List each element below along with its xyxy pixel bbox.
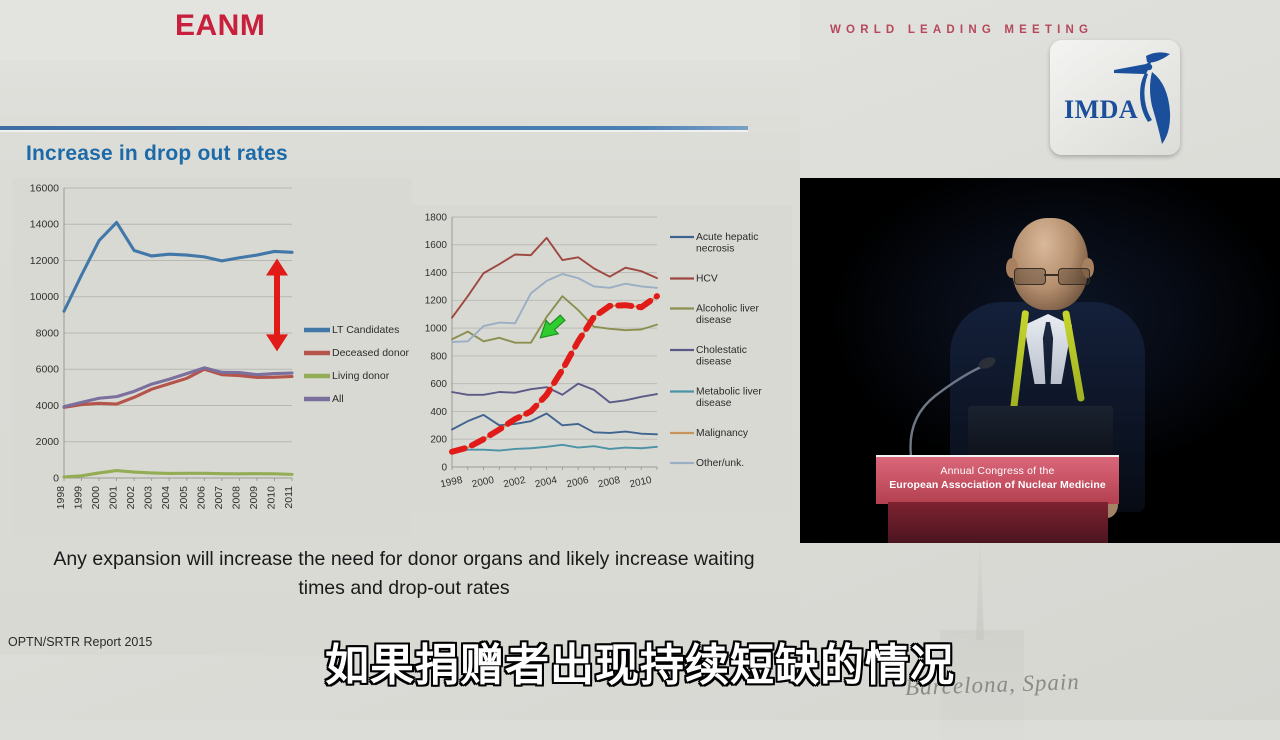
svg-text:Deceased donor: Deceased donor [332,347,410,359]
svg-text:10000: 10000 [30,291,59,303]
svg-text:Metabolic liver: Metabolic liver [696,387,762,398]
svg-text:1600: 1600 [425,240,448,251]
svg-text:disease: disease [696,357,732,368]
svg-text:12000: 12000 [30,255,59,267]
svg-text:Malignancy: Malignancy [696,428,749,439]
svg-text:2011: 2011 [283,486,295,509]
svg-text:1999: 1999 [73,486,85,510]
podium-line-1: Annual Congress of the [876,465,1119,477]
svg-text:2006: 2006 [195,486,207,510]
svg-text:Acute hepatic: Acute hepatic [696,232,758,243]
slide-caption: Any expansion will increase the need for… [34,545,774,604]
svg-text:1200: 1200 [425,296,448,307]
svg-text:2009: 2009 [248,486,260,510]
podium-banner: Annual Congress of the European Associat… [876,455,1119,504]
svg-text:2003: 2003 [143,486,155,510]
svg-text:2007: 2007 [213,486,225,510]
presentation-slide: Increase in drop out rates 0200040006000… [0,60,800,655]
glasses-icon [1012,268,1090,284]
podium-base [888,502,1108,543]
svg-text:Living donor: Living donor [332,370,390,382]
svg-text:disease: disease [696,398,732,409]
svg-text:Cholestatic: Cholestatic [696,345,747,356]
svg-text:2000: 2000 [90,486,102,510]
kingfisher-bird-icon [1112,48,1174,148]
svg-text:LT Candidates: LT Candidates [332,324,399,336]
svg-text:2000: 2000 [36,436,60,448]
svg-text:Alcoholic liver: Alcoholic liver [696,304,760,315]
svg-text:6000: 6000 [36,364,60,376]
slide-title: Increase in drop out rates [26,142,288,166]
eanm-logo: EANM [175,11,265,41]
svg-text:0: 0 [53,472,59,484]
screen-root: EANM WORLD LEADING MEETING IMDA Increase… [0,0,1280,720]
chart-lt-candidates-vs-donors: 0200040006000800010000120001400016000199… [12,178,412,538]
svg-text:200: 200 [430,435,447,446]
svg-text:2002: 2002 [125,486,137,510]
svg-text:14000: 14000 [30,219,59,231]
podium-line-2: European Association of Nuclear Medicine [870,479,1125,491]
svg-text:1400: 1400 [425,268,448,279]
svg-text:All: All [332,393,344,405]
eanm-header-bar [0,0,800,60]
svg-text:2010: 2010 [265,486,277,510]
svg-text:1800: 1800 [425,212,448,223]
svg-text:600: 600 [430,379,447,390]
svg-text:16000: 16000 [30,182,59,194]
svg-text:2008: 2008 [230,486,242,510]
svg-text:400: 400 [430,407,447,418]
svg-text:800: 800 [430,351,447,362]
svg-text:1998: 1998 [55,486,67,510]
subtitle-caption: 如果捐赠者出现持续短缺的情况 [0,629,1280,693]
svg-text:2004: 2004 [160,486,172,510]
world-leading-meeting-tagline: WORLD LEADING MEETING [830,24,1093,36]
svg-text:Other/unk.: Other/unk. [696,458,744,469]
imda-logo: IMDA [1050,40,1180,155]
svg-text:0: 0 [441,462,447,473]
svg-text:disease: disease [696,315,732,326]
svg-text:HCV: HCV [696,274,718,285]
svg-text:2001: 2001 [108,486,120,510]
speaker-video-panel[interactable]: Annual Congress of the European Associat… [800,178,1280,543]
svg-text:necrosis: necrosis [696,244,734,255]
svg-text:1000: 1000 [425,324,448,335]
svg-text:4000: 4000 [36,400,60,412]
svg-text:2005: 2005 [178,486,190,510]
svg-text:8000: 8000 [36,327,60,339]
chart-waitlist-by-diagnosis: 0200400600800100012001400160018001998200… [412,205,792,510]
